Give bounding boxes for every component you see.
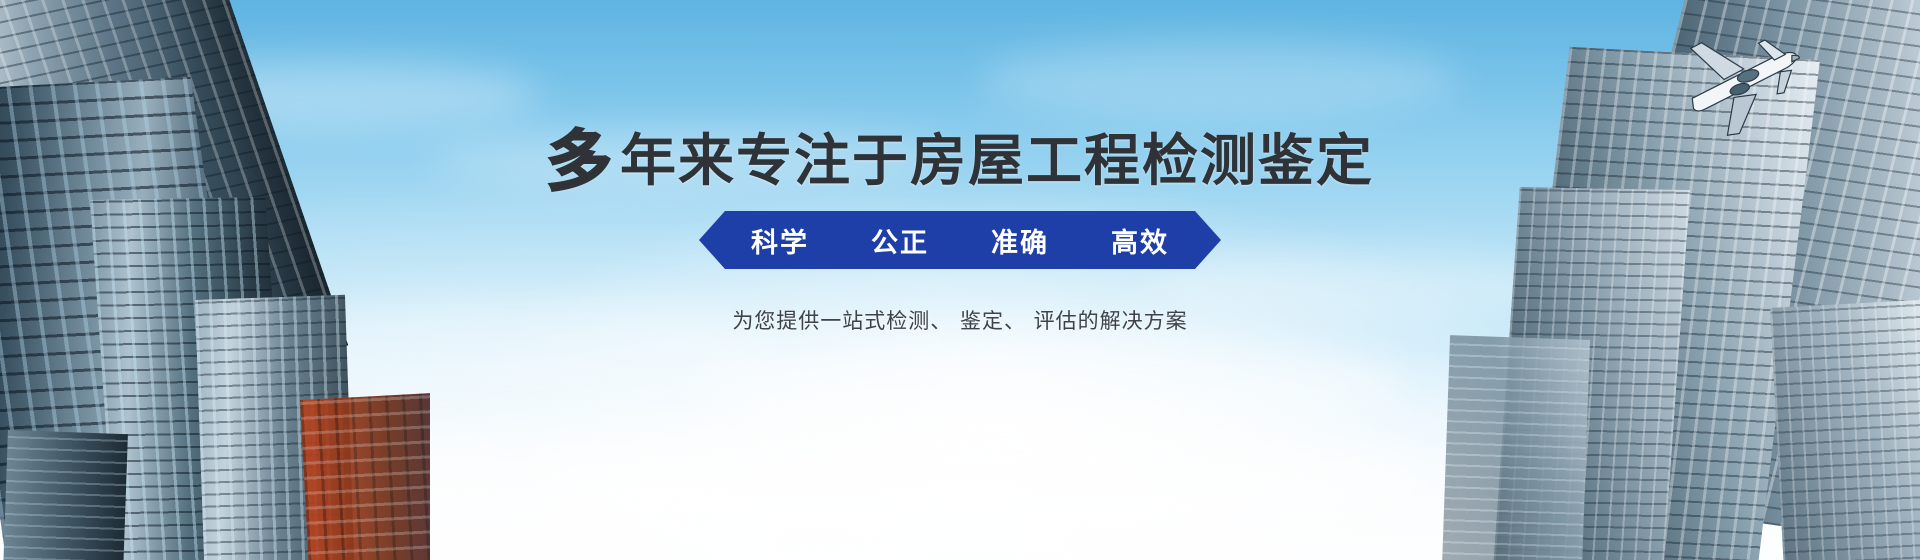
- window-grid: [3, 430, 128, 560]
- building-shape: [1442, 335, 1590, 560]
- window-grid: [1442, 335, 1590, 560]
- window-grid: [300, 393, 430, 560]
- hero-banner: 多年来专注于房屋工程检测鉴定 科学 公正 准确 高效 为您提供一站式检测、 鉴定…: [0, 0, 1920, 560]
- left-skyscrapers: [0, 0, 430, 560]
- cloud-shape: [980, 40, 1460, 120]
- cloud-shape: [430, 130, 950, 190]
- window-grid: [1770, 300, 1920, 560]
- building-shape: [300, 393, 430, 560]
- building-shape: [3, 430, 128, 560]
- building-shape: [1770, 300, 1920, 560]
